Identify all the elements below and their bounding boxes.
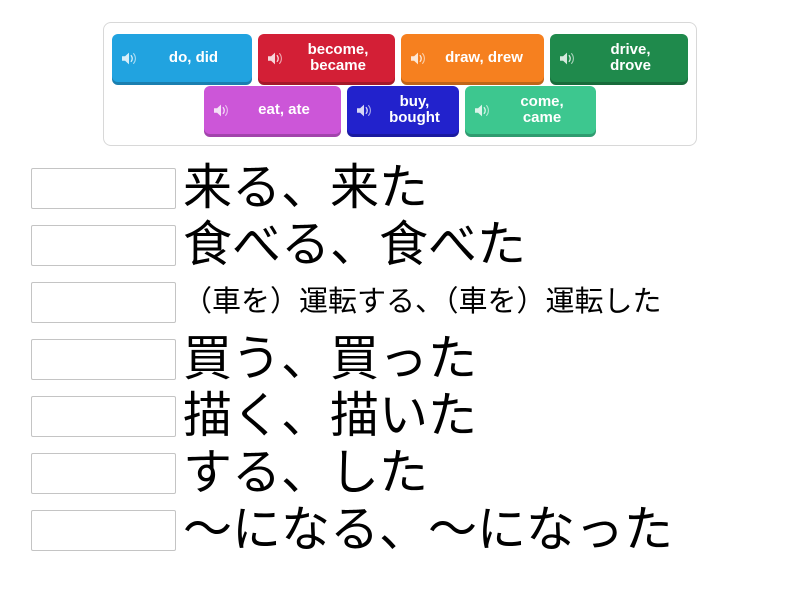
match-row: 食べる、食べた xyxy=(0,217,800,274)
tile-do-did[interactable]: do, did xyxy=(112,34,252,82)
match-row: （車を）運転する、（車を）運転した xyxy=(0,274,800,331)
match-row: 来る、来た xyxy=(0,160,800,217)
tile-label: become, became xyxy=(287,42,395,74)
match-row: 描く、描いた xyxy=(0,388,800,445)
drop-zone[interactable] xyxy=(31,339,176,380)
tile-buy-bought[interactable]: buy, bought xyxy=(347,86,459,134)
answer-label: 〜になる、〜になった xyxy=(183,506,800,555)
drop-zone[interactable] xyxy=(31,396,176,437)
match-row: 買う、買った xyxy=(0,331,800,388)
drop-zone[interactable] xyxy=(31,225,176,266)
answer-label: 食べる、食べた xyxy=(183,221,800,270)
speaker-icon[interactable] xyxy=(265,48,285,68)
tile-become-became[interactable]: become, became xyxy=(258,34,395,82)
answer-label: 買う、買った xyxy=(183,335,800,384)
speaker-icon[interactable] xyxy=(557,48,577,68)
answer-label: （車を）運転する、（車を）運転した xyxy=(183,288,800,317)
answer-label: 来る、来た xyxy=(183,164,800,213)
tile-come-came[interactable]: come, came xyxy=(465,86,596,134)
tile-eat-ate[interactable]: eat, ate xyxy=(204,86,341,134)
match-rows: 来る、来た 食べる、食べた （車を）運転する、（車を）運転した 買う、買った 描… xyxy=(0,160,800,559)
speaker-icon[interactable] xyxy=(119,48,139,68)
match-row: する、した xyxy=(0,445,800,502)
tile-label: draw, drew xyxy=(430,50,544,66)
match-row: 〜になる、〜になった xyxy=(0,502,800,559)
speaker-icon[interactable] xyxy=(211,100,231,120)
draggable-tile-tray: do, did become, became xyxy=(103,22,697,146)
drop-zone[interactable] xyxy=(31,168,176,209)
tile-tray-row-1: do, did become, became xyxy=(109,34,691,82)
tile-label: come, came xyxy=(494,94,596,126)
tile-label: drive, drove xyxy=(579,42,688,74)
tile-draw-drew[interactable]: draw, drew xyxy=(401,34,544,82)
speaker-icon[interactable] xyxy=(408,48,428,68)
answer-label: 描く、描いた xyxy=(183,392,800,441)
tile-label: eat, ate xyxy=(233,102,341,118)
drop-zone[interactable] xyxy=(31,282,176,323)
tile-label: buy, bought xyxy=(376,94,459,126)
tile-drive-drove[interactable]: drive, drove xyxy=(550,34,688,82)
tile-label: do, did xyxy=(141,50,252,66)
answer-label: する、した xyxy=(183,449,800,498)
drop-zone[interactable] xyxy=(31,453,176,494)
drop-zone[interactable] xyxy=(31,510,176,551)
activity-root: do, did become, became xyxy=(0,0,800,600)
speaker-icon[interactable] xyxy=(472,100,492,120)
tile-tray-row-2: eat, ate buy, bought xyxy=(201,86,599,134)
speaker-icon[interactable] xyxy=(354,100,374,120)
